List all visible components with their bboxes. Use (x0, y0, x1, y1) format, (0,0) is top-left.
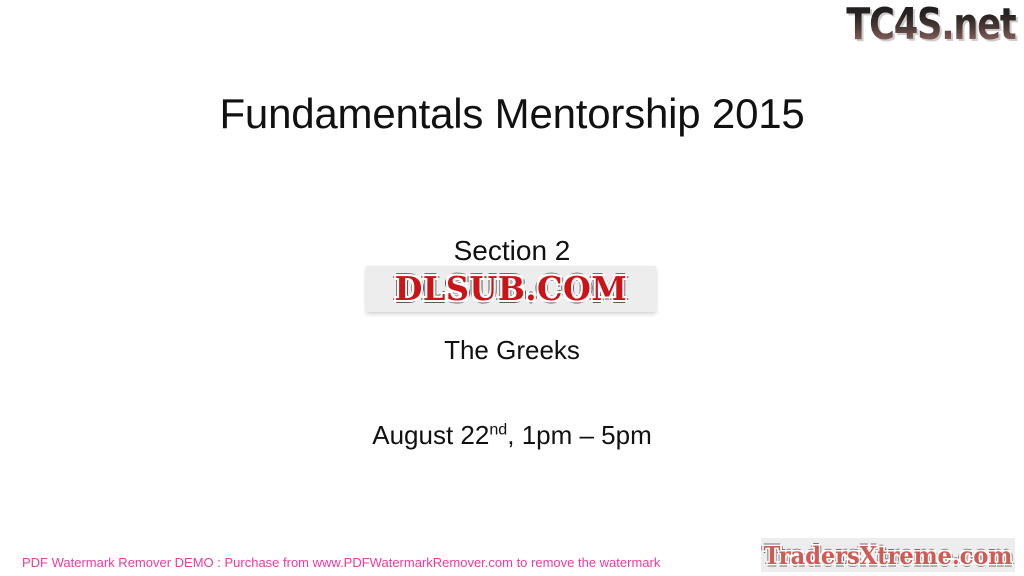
tradersxtreme-com-logo: TradersXtreme.com (764, 543, 1013, 568)
datetime-ordinal: nd (489, 420, 507, 438)
pdf-watermark-notice: PDF Watermark Remover DEMO : Purchase fr… (22, 554, 660, 571)
slide-datetime: August 22nd, 1pm – 5pm (0, 418, 1024, 452)
slide-title: Fundamentals Mentorship 2015 (0, 88, 1024, 140)
tc4s-net-logo: TC4S.net (847, 2, 1016, 48)
tradersxtreme-logo-panel: TradersXtreme.com (761, 538, 1015, 572)
slide-subtitle: The Greeks (0, 333, 1024, 367)
presentation-slide: TC4S.net TC4S.net Fundamentals Mentorshi… (0, 0, 1024, 576)
dlsub-com-logo: DLSUB.COM (395, 272, 628, 306)
datetime-suffix: , 1pm – 5pm (507, 420, 652, 450)
dlsub-watermark-panel: DLSUB.COM (366, 266, 656, 312)
datetime-prefix: August 22 (372, 420, 489, 450)
section-label: Section 2 (0, 233, 1024, 269)
